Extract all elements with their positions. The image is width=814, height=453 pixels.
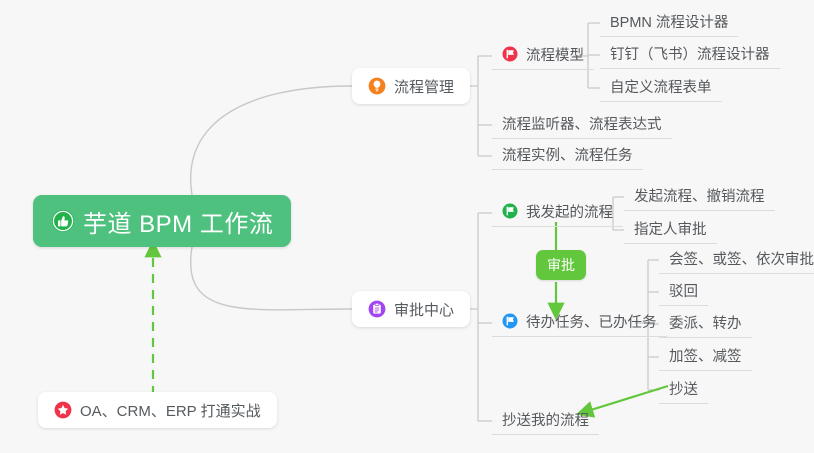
- node-dingtalk-feishu-designer[interactable]: 钉钉（飞书）流程设计器: [600, 43, 780, 69]
- node-add-remove-sign[interactable]: 加签、减签: [659, 345, 752, 371]
- lightbulb-icon: [368, 77, 386, 95]
- node-todo-done-tasks[interactable]: 待办任务、已办任务: [492, 311, 667, 337]
- node-label: 审批中心: [394, 299, 454, 320]
- node-bpmn-designer[interactable]: BPMN 流程设计器: [600, 11, 738, 37]
- star-icon: [54, 401, 72, 419]
- node-label: OA、CRM、ERP 打通实战: [80, 400, 261, 421]
- node-approval-center[interactable]: 审批中心: [352, 291, 470, 327]
- node-label: 委派、转办: [669, 312, 742, 333]
- node-designated-approver[interactable]: 指定人审批: [624, 218, 717, 244]
- node-label: 我发起的流程: [526, 201, 613, 222]
- node-cc-to-me-process[interactable]: 抄送我的流程: [492, 409, 599, 435]
- node-oa-crm-erp-integration[interactable]: OA、CRM、ERP 打通实战: [38, 392, 277, 428]
- thumbs-up-icon: [51, 209, 75, 233]
- node-label: 发起流程、撤销流程: [634, 185, 765, 206]
- node-label: 流程管理: [394, 76, 454, 97]
- node-process-listener-expression[interactable]: 流程监听器、流程表达式: [492, 113, 672, 139]
- node-label: 流程实例、流程任务: [502, 144, 633, 165]
- node-carbon-copy[interactable]: 抄送: [659, 378, 708, 404]
- node-process-management[interactable]: 流程管理: [352, 68, 470, 104]
- root-node[interactable]: 芋道 BPM 工作流: [33, 195, 291, 247]
- flag-icon: [502, 313, 518, 329]
- root-label: 芋道 BPM 工作流: [83, 204, 273, 239]
- node-label: 自定义流程表单: [610, 76, 712, 97]
- node-reject[interactable]: 驳回: [659, 280, 708, 306]
- node-label: 指定人审批: [634, 218, 707, 239]
- node-label: 会签、或签、依次审批: [669, 248, 814, 269]
- flag-icon: [502, 46, 518, 62]
- node-label: 抄送我的流程: [502, 409, 589, 430]
- node-label: 钉钉（飞书）流程设计器: [610, 43, 770, 64]
- node-process-model[interactable]: 流程模型: [492, 44, 594, 70]
- node-label: 加签、减签: [669, 345, 742, 366]
- node-label: 待办任务、已办任务: [526, 311, 657, 332]
- node-start-cancel-process[interactable]: 发起流程、撤销流程: [624, 185, 775, 211]
- node-label: 抄送: [669, 378, 698, 399]
- flag-icon: [502, 203, 518, 219]
- approval-annotation-badge: 审批: [536, 250, 586, 280]
- node-label: 流程模型: [526, 44, 584, 65]
- node-label: 驳回: [669, 280, 698, 301]
- clipboard-icon: [368, 300, 386, 318]
- node-delegate-transfer[interactable]: 委派、转办: [659, 312, 752, 338]
- edge-root-to-process-management: [191, 86, 352, 195]
- node-process-instance-task[interactable]: 流程实例、流程任务: [492, 144, 643, 170]
- node-label: 流程监听器、流程表达式: [502, 113, 662, 134]
- node-label: BPMN 流程设计器: [610, 11, 728, 32]
- edge-root-to-approval-center: [191, 247, 352, 310]
- mindmap-canvas: 芋道 BPM 工作流 流程管理 流程模型 BPMN 流程设计器 钉钉（飞书）流程: [0, 0, 814, 453]
- node-custom-process-form[interactable]: 自定义流程表单: [600, 76, 722, 102]
- badge-label: 审批: [547, 255, 575, 275]
- node-countersign-orsign-sequential[interactable]: 会签、或签、依次审批: [659, 248, 814, 274]
- node-my-initiated-process[interactable]: 我发起的流程: [492, 201, 623, 227]
